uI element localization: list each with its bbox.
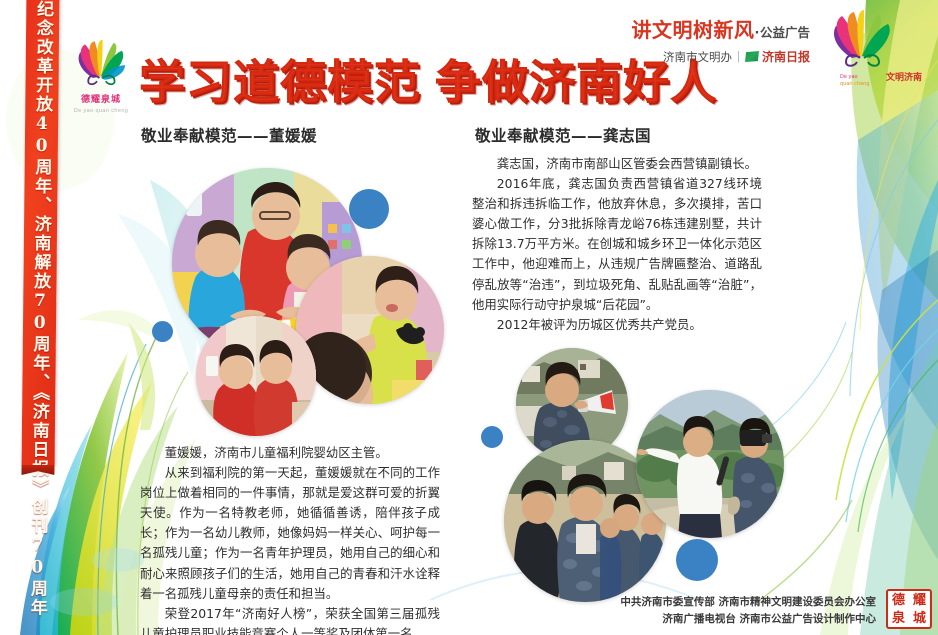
footer-credits: 中共济南市委宣传部 济南市精神文明建设委员会办公室 济南广播电视台 济南市公益广… bbox=[620, 594, 876, 627]
civilization-emblem: De yao quan cheng 文明济南 bbox=[816, 8, 924, 100]
campaign-subtitle: 公益广告 bbox=[760, 25, 810, 40]
photo-caregiver-play-image bbox=[296, 256, 444, 404]
anniversary-banner-text: 纪念改革开放40周年、济南解放70周年、《济南日报》创刊70周年 bbox=[25, 0, 54, 618]
footer-line-1: 中共济南市委宣传部 济南市精神文明建设委员会办公室 bbox=[620, 594, 876, 610]
section-heading-right: 敬业奉献模范——龚志国 bbox=[475, 124, 651, 146]
page-title: 学习道德模范争做济南好人 bbox=[139, 46, 717, 112]
photo-feeding-children-image bbox=[196, 316, 316, 436]
paragraph: 荣登2017年“济南好人榜”，荣获全国第三届孤残儿童护理员职业技能竞赛个人一等奖… bbox=[140, 604, 440, 635]
decor-dot-1 bbox=[349, 189, 389, 229]
seal-char-2: 耀 bbox=[913, 594, 926, 607]
svg-text:De yao: De yao bbox=[840, 74, 858, 80]
paragraph: 董媛媛，济南市儿童福利院婴幼区主管。 bbox=[140, 443, 440, 463]
section-heading-left: 敬业奉献模范——董媛媛 bbox=[141, 124, 317, 146]
campaign-sponsors: 济南市文明办 | 济南日报 bbox=[632, 48, 810, 65]
newspaper-logo: 济南日报 bbox=[745, 48, 810, 65]
photo-caregiver-play bbox=[296, 256, 444, 404]
paragraph: 2012年被评为历城区优秀共产党员。 bbox=[472, 315, 762, 335]
newspaper-name: 济南日报 bbox=[762, 48, 810, 65]
poster-canvas: 纪念改革开放40周年、济南解放70周年、《济南日报》创刊70周年 德耀泉城 De… bbox=[0, 0, 938, 635]
anniversary-banner: 纪念改革开放40周年、济南解放70周年、《济南日报》创刊70周年 bbox=[22, 0, 60, 466]
deyaoquancheng-seal: 德 耀 泉 城 bbox=[886, 589, 932, 629]
page-title-part1: 学习道德模范 bbox=[139, 55, 421, 109]
paragraph: 龚志国，济南市南部山区管委会西营镇副镇长。 bbox=[472, 154, 762, 174]
logo-name-en: De yao quan cheng bbox=[62, 108, 140, 114]
footer-line-2: 济南广播电视台 济南市公益广告设计制作中心 bbox=[620, 611, 876, 627]
seal-char-4: 城 bbox=[913, 612, 926, 625]
seal-char-3: 泉 bbox=[892, 612, 905, 625]
decor-dot-2 bbox=[152, 321, 173, 342]
emblem-butterfly-icon: De yao quan cheng 文明济南 bbox=[816, 8, 924, 100]
sponsor-divider: | bbox=[737, 51, 740, 63]
campaign-title-line: 讲文明树新风·公益广告 bbox=[632, 14, 810, 43]
deyaoquancheng-logo: 德耀泉城 De yao quan cheng bbox=[62, 38, 140, 118]
paragraph: 从来到福利院的第一天起，董媛媛就在不同的工作岗位上做着相同的一件事情，那就是爱这… bbox=[140, 463, 440, 604]
biography-text-right: 龚志国，济南市南部山区管委会西营镇副镇长。 2016年底，龚志国负责西营镇省道3… bbox=[472, 154, 762, 335]
campaign-title: 讲文明树新风 bbox=[632, 18, 755, 42]
newspaper-mark-icon bbox=[745, 51, 759, 62]
svg-text:文明济南: 文明济南 bbox=[885, 71, 922, 83]
logo-name-cn: 德耀泉城 bbox=[62, 92, 140, 105]
paragraph: 2016年底，龚志国负责西营镇省道327线环境整治和拆违拆临工作，他放弃休息，多… bbox=[472, 174, 762, 315]
sponsor-office: 济南市文明办 bbox=[663, 49, 732, 65]
biography-text-left: 董媛媛，济南市儿童福利院婴幼区主管。 从来到福利院的第一天起，董媛媛就在不同的工… bbox=[140, 443, 440, 635]
photo-official-interview bbox=[636, 390, 784, 538]
decor-dot-3 bbox=[481, 426, 503, 448]
photo-official-interview-image bbox=[636, 390, 784, 538]
decor-dot-4 bbox=[676, 539, 718, 581]
campaign-header: 讲文明树新风·公益广告 济南市文明办 | 济南日报 bbox=[632, 14, 810, 65]
photo-feeding-children bbox=[196, 316, 316, 436]
svg-text:quan cheng: quan cheng bbox=[840, 81, 870, 87]
seal-char-1: 德 bbox=[892, 594, 905, 607]
